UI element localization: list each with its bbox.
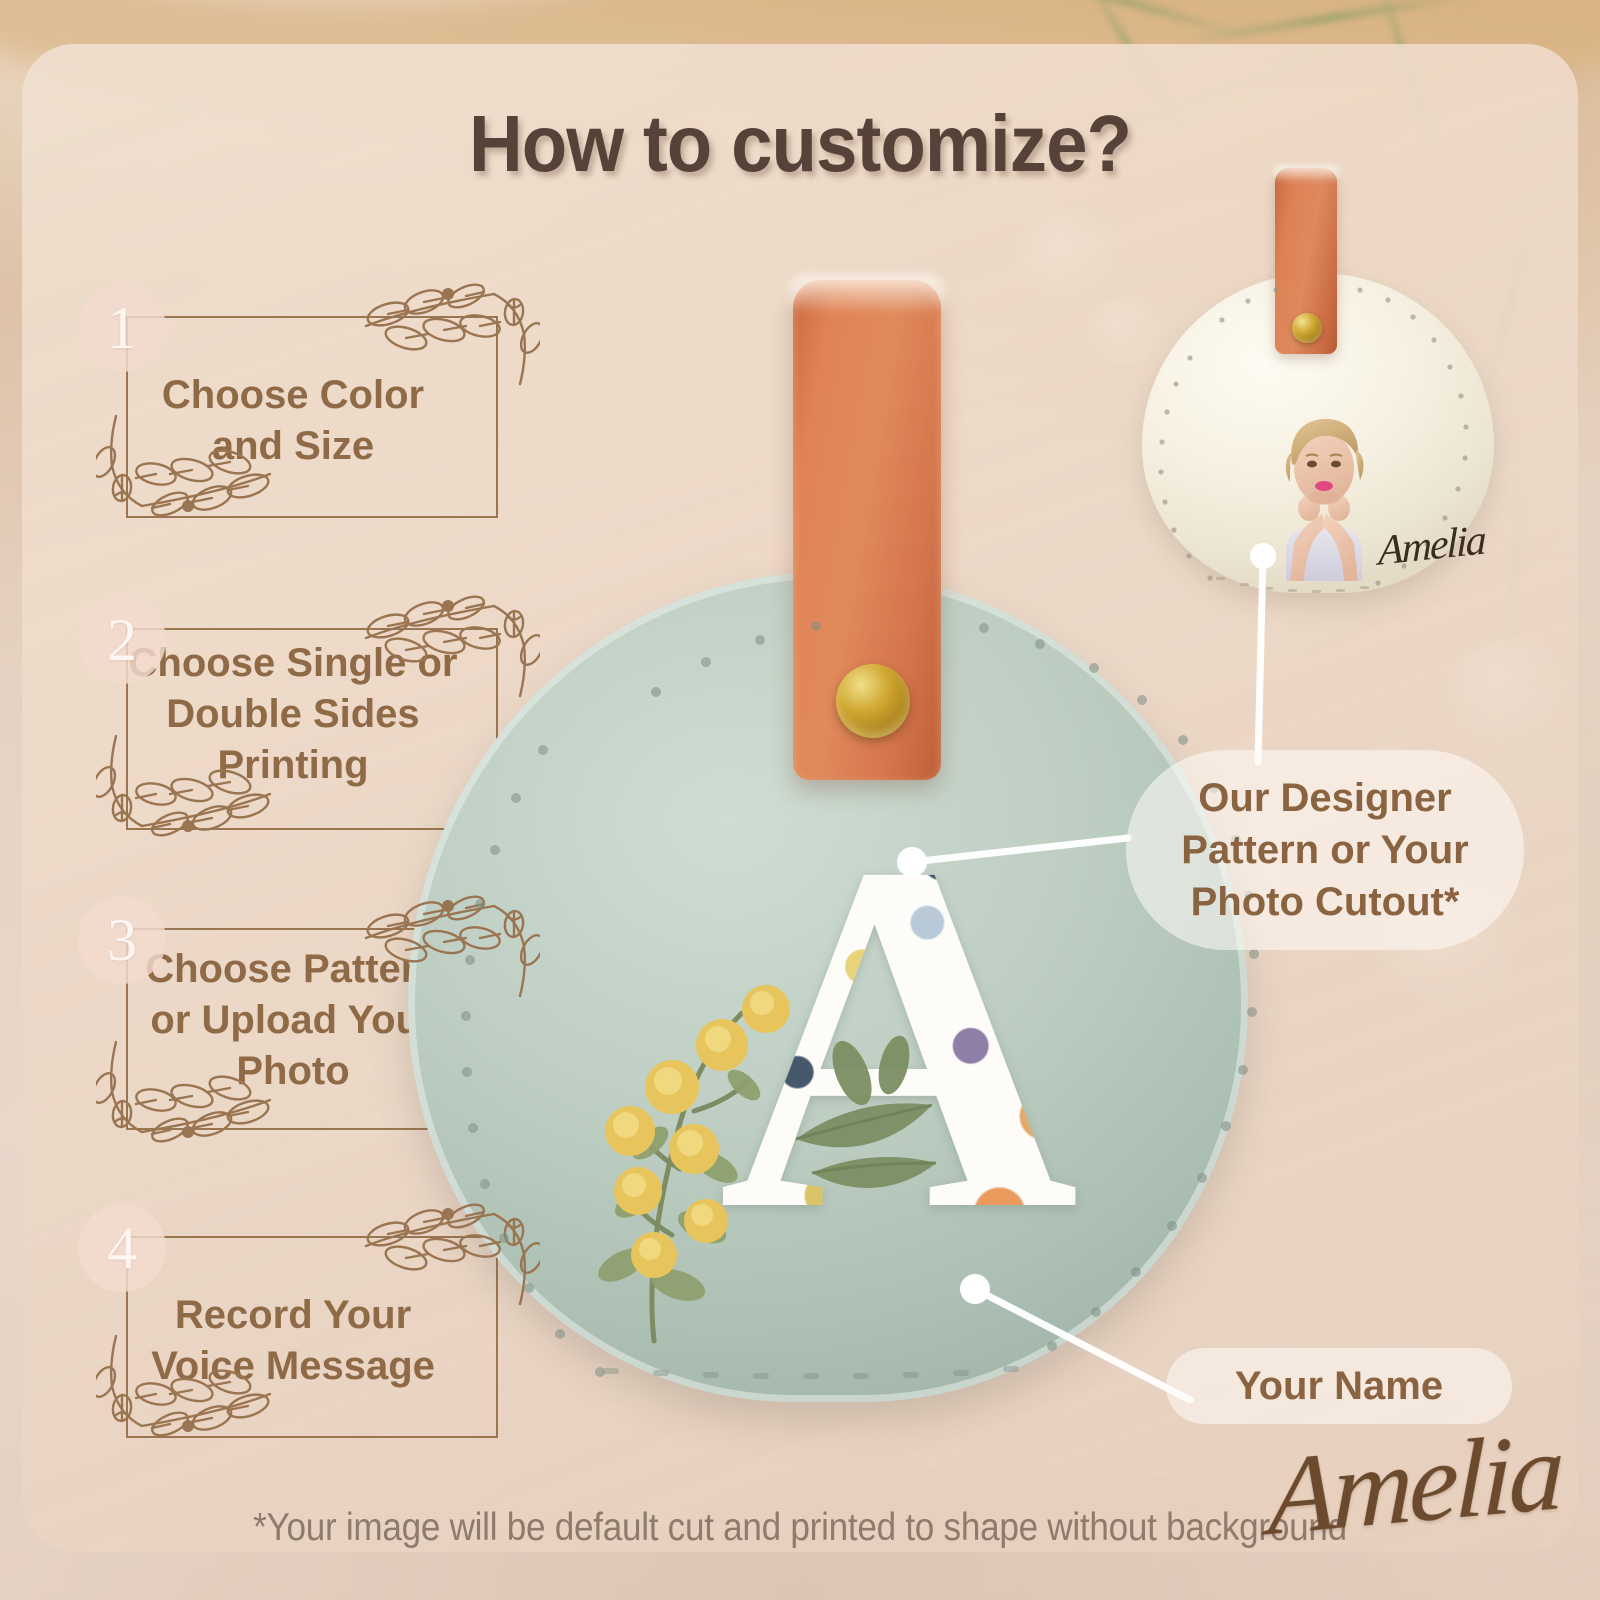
step-4-number: 4 — [78, 1204, 166, 1292]
callout-your-name[interactable]: Your Name — [1166, 1348, 1512, 1424]
product-inset-tag: Amelia — [1120, 168, 1520, 598]
monogram-artwork: A — [638, 817, 1108, 1317]
infographic-canvas: How to customize? — [0, 0, 1600, 1600]
callout-designer-pattern[interactable]: Our Designer Pattern or Your Photo Cutou… — [1126, 750, 1524, 950]
step-1[interactable]: 1 Choose Color and Size — [78, 284, 508, 472]
photo-cutout-child — [1260, 406, 1388, 581]
brass-rivet — [836, 664, 910, 738]
engraved-name-inset: Amelia — [1378, 516, 1484, 575]
green-leaf-accent-icon — [756, 1013, 986, 1243]
step-1-number: 1 — [78, 284, 166, 372]
step-3-number: 3 — [78, 896, 166, 984]
step-2-number: 2 — [78, 596, 166, 684]
engraved-name-main: Amelia — [1267, 1407, 1561, 1562]
step-2[interactable]: 2 Choose Single or Double Sides Printing — [78, 596, 508, 792]
brass-rivet-inset — [1292, 313, 1322, 343]
